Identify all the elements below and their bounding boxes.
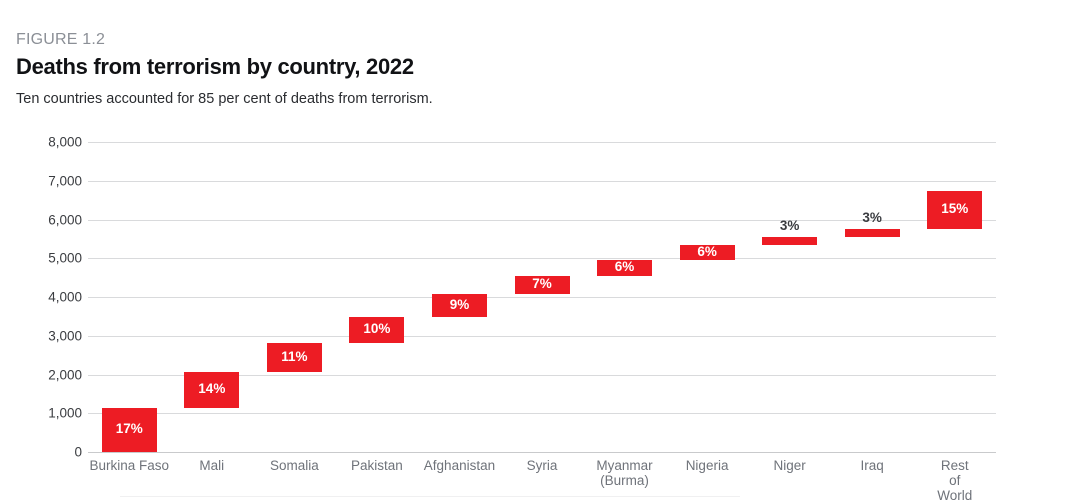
bar[interactable] — [762, 237, 817, 245]
gridline — [88, 220, 996, 221]
gridline — [88, 336, 996, 337]
footer-rule — [120, 496, 740, 497]
x-axis-tick: Somalia — [270, 458, 319, 473]
y-axis-tick: 0 — [8, 445, 82, 460]
y-axis-tick: 4,000 — [8, 290, 82, 305]
figure-container: FIGURE 1.2 Deaths from terrorism by coun… — [0, 0, 1075, 501]
bar-value-label: 7% — [532, 276, 552, 291]
x-axis-tick-labels: Burkina FasoMaliSomaliaPakistanAfghanist… — [88, 458, 996, 498]
figure-number: FIGURE 1.2 — [16, 31, 105, 49]
bar-value-label: 6% — [697, 244, 717, 259]
x-axis-tick: Mali — [199, 458, 224, 473]
figure-subtitle: Ten countries accounted for 85 per cent … — [16, 91, 433, 107]
x-axis-tick: Afghanistan — [424, 458, 495, 473]
y-axis-tick: 8,000 — [8, 135, 82, 150]
plot-area: 17%14%11%10%9%7%6%6%3%3%15% — [88, 142, 996, 452]
y-axis-tick: 5,000 — [8, 251, 82, 266]
bar-value-label: 9% — [450, 297, 470, 312]
y-axis-tick: 7,000 — [8, 173, 82, 188]
bar-value-label: 3% — [862, 210, 882, 225]
figure-title: Deaths from terrorism by country, 2022 — [16, 54, 414, 80]
y-axis-tick: 2,000 — [8, 367, 82, 382]
gridline — [88, 452, 996, 453]
bar-value-label: 3% — [780, 218, 800, 233]
y-axis-tick-labels: 01,0002,0003,0004,0005,0006,0007,0008,00… — [0, 142, 82, 452]
gridline — [88, 181, 996, 182]
gridline — [88, 297, 996, 298]
bar-value-label: 11% — [281, 349, 307, 364]
bar[interactable] — [845, 229, 900, 237]
bar-value-label: 14% — [198, 381, 225, 396]
x-axis-tick: Iraq — [861, 458, 884, 473]
bar-value-label: 10% — [363, 321, 390, 336]
bar-value-label: 6% — [615, 259, 635, 274]
x-axis-tick: Pakistan — [351, 458, 403, 473]
x-axis-tick: Rest of World — [934, 458, 975, 501]
bar-value-label: 15% — [941, 201, 968, 216]
x-axis-tick: Syria — [527, 458, 558, 473]
gridline — [88, 258, 996, 259]
gridline — [88, 142, 996, 143]
gridline — [88, 413, 996, 414]
bar-value-label: 17% — [116, 421, 143, 436]
x-axis-tick: Myanmar (Burma) — [596, 458, 652, 488]
y-axis-tick: 1,000 — [8, 406, 82, 421]
x-axis-tick: Nigeria — [686, 458, 729, 473]
x-axis-tick: Niger — [773, 458, 805, 473]
y-axis-tick: 3,000 — [8, 328, 82, 343]
x-axis-tick: Burkina Faso — [89, 458, 169, 473]
y-axis-tick: 6,000 — [8, 212, 82, 227]
